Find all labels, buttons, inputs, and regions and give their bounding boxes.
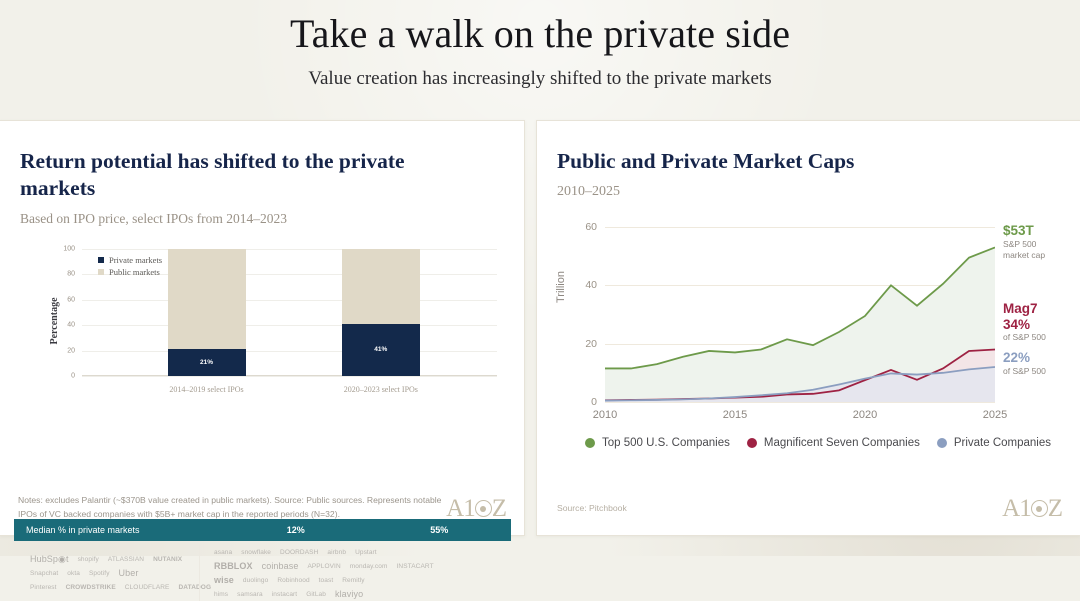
company-logo: shopify [78,556,99,563]
logo-row: RВBLOXcoinbaseAPPLOVINmonday.comINSTACAR… [214,561,511,572]
company-logo: okta [67,570,80,577]
line-x-tick: 2010 [593,409,617,421]
line-legend-label: Top 500 U.S. Companies [602,437,730,449]
median-value-2: 55% [368,525,512,535]
legend-item-public: Public markets [98,267,162,277]
bar-y-tick: 20 [67,347,75,354]
bar-y-tick: 40 [67,322,75,329]
bar-segment-private: 41% [342,324,420,376]
market-cap-area-chart: Trillion 02040602010201520202025 $53T S&… [557,217,1061,539]
a16z-ring-icon-right [1031,500,1048,517]
right-card-title: Public and Private Market Caps [557,148,1080,175]
annotation-mag7-value: 34% [1003,317,1046,333]
company-logo: hims [214,591,228,598]
company-logo: ATLASSIAN [108,556,144,563]
a16z-logo-text-left: A1 [446,496,475,521]
left-card-notes: Notes: excludes Palantir (~$370B value c… [18,494,446,521]
page-title: Take a walk on the private side [0,12,1080,57]
left-card-title: Return potential has shifted to the priv… [20,148,460,202]
company-logo: GitLab [306,591,326,598]
line-x-tick: 2015 [723,409,747,421]
legend-item-private: Private markets [98,255,162,265]
left-card-footer: Notes: excludes Palantir (~$370B value c… [0,494,524,521]
area-chart-svg [605,227,995,402]
bar-x-tick-label: 2014–2019 select IPOs [122,385,292,394]
company-logo: HubSp◉t [30,554,69,565]
company-logo: snowflake [241,549,271,556]
logo-row: wiseduolingoRobinhoodtoastRemitly [214,575,511,586]
bar-column[interactable]: 21% [168,249,246,376]
bar-chart-legend: Private markets Public markets [98,255,162,279]
bar-gridline [82,300,497,301]
logo-row: himssamsarainstacartGitLabklaviyo [214,589,511,600]
page-subtitle: Value creation has increasingly shifted … [0,68,1080,90]
company-logo: Snapchat [30,570,58,577]
line-x-tick: 2025 [983,409,1007,421]
annotation-mag7: Mag7 34% of S&P 500 [1003,301,1046,343]
a16z-logo-left: A1 Z [446,496,506,521]
right-chart-card: Public and Private Market Caps 2010–2025… [536,120,1080,536]
company-logo: INSTACART [397,563,434,570]
slide-header: Take a walk on the private side Value cr… [0,0,1080,90]
company-logo: CROWDSTRIKE [66,584,116,591]
left-card-subtitle: Based on IPO price, select IPOs from 201… [20,211,524,227]
a16z-ring-icon-left [475,500,492,517]
annotation-private-line1: of S&P 500 [1003,366,1046,377]
bar-column[interactable]: 41% [342,249,420,376]
bar-gridline [82,351,497,352]
company-logo: wise [214,575,234,585]
bar-value-label: 21% [200,359,213,366]
a16z-logo-text-right: Z [492,496,506,521]
line-y-tick: 0 [591,396,597,408]
right-card-subtitle: 2010–2025 [557,184,1080,200]
bar-y-axis-label: Percentage [49,297,60,344]
line-gridline [605,402,995,403]
company-logo: RВBLOX [214,561,253,571]
line-legend-item[interactable]: Magnificent Seven Companies [747,437,920,449]
company-logo: monday.com [350,563,388,570]
a16z-logo-text-right-2: Z [1048,496,1062,521]
annotation-sp500-line1: S&P 500 [1003,239,1045,250]
company-logo: airbnb [327,549,346,556]
logo-group-recent: asanasnowflakeDOORDASHairbnbUpstartRВBLO… [199,545,511,601]
logo-row: SnapchatoktaSpotifyUber [30,568,199,579]
line-legend-item[interactable]: Private Companies [937,437,1051,449]
bar-gridline [82,249,497,250]
line-x-tick: 2020 [853,409,877,421]
left-chart-card: Return potential has shifted to the priv… [0,120,525,536]
median-value-1: 12% [224,525,368,535]
company-logo: klaviyo [335,589,363,599]
bar-gridline [82,376,497,377]
company-logo-wall: HubSp◉tshopifyATLASSIANNUTANIXSnapchatok… [14,545,511,601]
bar-segment-private: 21% [168,349,246,376]
annotation-mag7-line1: of S&P 500 [1003,332,1046,343]
company-logo: samsara [237,591,263,598]
company-logo: coinbase [262,561,299,571]
company-logo: Uber [119,568,139,578]
company-logo: asana [214,549,232,556]
annotation-sp500-line2: market cap [1003,250,1045,261]
line-y-tick: 60 [585,221,597,233]
line-y-axis-label: Trillion [555,271,567,303]
company-logo: Robinhood [277,577,309,584]
company-logo: Pinterest [30,584,57,591]
company-logo: NUTANIX [153,556,182,563]
logo-row: PinterestCROWDSTRIKECLOUDFLAREDATADOG [30,582,199,593]
line-chart-legend: Top 500 U.S. CompaniesMagnificent Seven … [585,437,1051,449]
company-logo: Spotify [89,570,110,577]
bar-y-tick: 60 [67,296,75,303]
company-logo: DOORDASH [280,549,318,556]
legend-label-public: Public markets [109,267,160,277]
annotation-private: 22% of S&P 500 [1003,350,1046,377]
annotation-sp500-value: $53T [1003,223,1045,239]
bar-y-tick: 100 [63,246,75,253]
median-summary-row: Median % in private markets 12% 55% [14,519,511,541]
logo-group-early: HubSp◉tshopifyATLASSIANNUTANIXSnapchatok… [14,545,199,601]
line-legend-dot [747,438,757,448]
line-legend-label: Magnificent Seven Companies [764,437,920,449]
company-logo: CLOUDFLARE [125,584,170,591]
line-y-tick: 40 [585,279,597,291]
company-logo: duolingo [243,577,268,584]
line-legend-label: Private Companies [954,437,1051,449]
stacked-bar-chart: Percentage 10080604020021%2014–2019 sele… [20,243,505,398]
bar-gridline [82,325,497,326]
bar-y-tick: 0 [71,373,75,380]
company-logo: toast [319,577,334,584]
legend-swatch-private [98,257,104,263]
line-legend-item[interactable]: Top 500 U.S. Companies [585,437,730,449]
annotation-private-value: 22% [1003,350,1046,366]
logo-row: HubSp◉tshopifyATLASSIANNUTANIX [30,554,199,565]
bar-value-label: 41% [374,346,387,353]
line-legend-dot [937,438,947,448]
a16z-logo-text-left-2: A1 [1002,496,1031,521]
company-logo: APPLOVIN [307,563,340,570]
annotation-sp500: $53T S&P 500 market cap [1003,223,1045,261]
annotation-mag7-label: Mag7 [1003,301,1046,317]
company-logo: instacart [272,591,297,598]
median-row-label: Median % in private markets [26,525,224,535]
company-logo: Remitly [342,577,364,584]
bar-y-tick: 80 [67,271,75,278]
line-legend-dot [585,438,595,448]
legend-label-private: Private markets [109,255,162,265]
legend-swatch-public [98,269,104,275]
line-plot-area: 02040602010201520202025 [605,227,995,402]
right-card-footer: A1 Z [537,496,1080,521]
company-logo: Upstart [355,549,377,556]
a16z-logo-right: A1 Z [1002,496,1062,521]
line-y-tick: 20 [585,338,597,350]
bar-x-tick-label: 2020–2023 select IPOs [296,385,466,394]
